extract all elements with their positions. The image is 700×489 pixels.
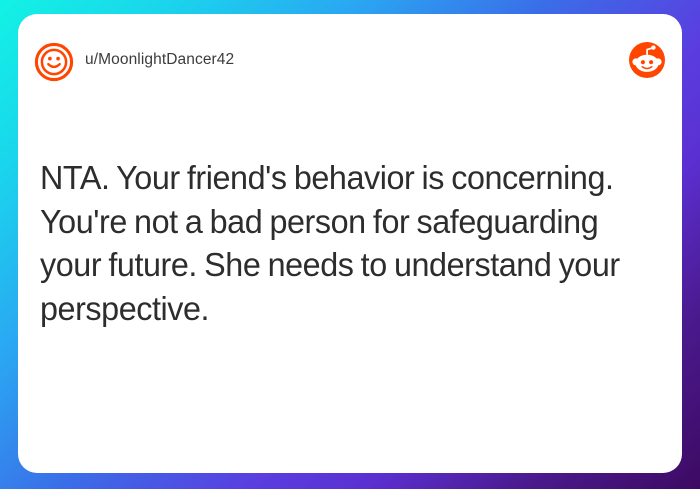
- reddit-snoo-icon[interactable]: [628, 41, 666, 79]
- quote-card: u/MoonlightDancer42 NTA. Your friend's b…: [18, 14, 682, 473]
- card-header: u/MoonlightDancer42: [18, 14, 682, 98]
- quote-body-text: NTA. Your friend's behavior is concernin…: [40, 157, 627, 331]
- smiley-face-icon: [34, 42, 74, 82]
- username-label: u/MoonlightDancer42: [85, 51, 234, 69]
